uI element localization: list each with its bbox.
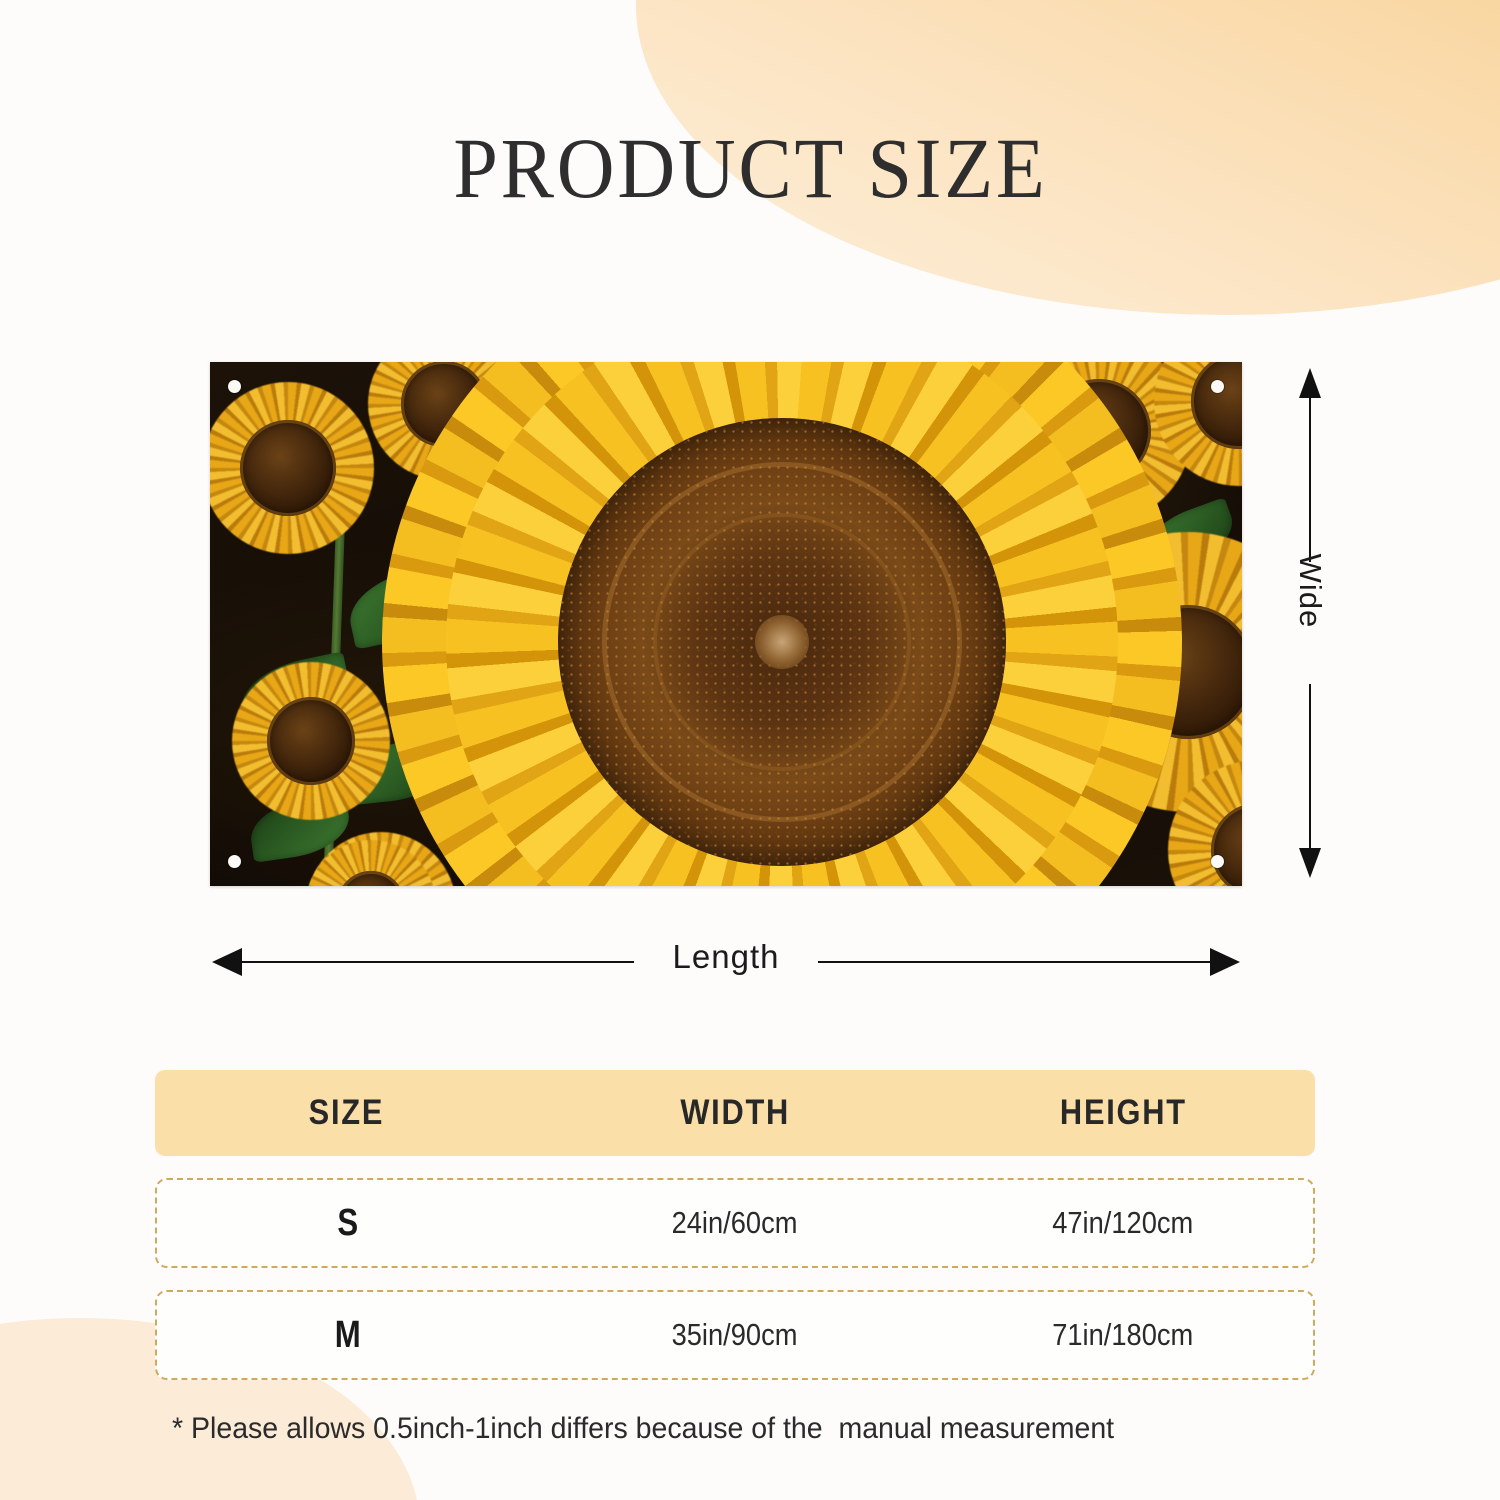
measurement-footnote: * Please allows 0.5inch-1inch differs be… xyxy=(172,1412,1114,1446)
sunflower-hero xyxy=(382,362,1182,886)
cell-size: M xyxy=(191,1314,504,1357)
sunflower-hero-disc xyxy=(558,418,1006,866)
sunflower-small xyxy=(232,662,390,820)
table-row: S 24in/60cm 47in/120cm xyxy=(155,1178,1315,1268)
sunflower-small xyxy=(210,382,374,554)
page-title: PRODUCT SIZE xyxy=(453,118,1047,218)
sunflower-seed-core xyxy=(755,615,809,669)
cell-height: 71in/180cm xyxy=(954,1317,1290,1353)
wide-dimension-arrow: Wide xyxy=(1290,368,1330,878)
arrow-line-right xyxy=(818,961,1214,963)
arrow-head-down-icon xyxy=(1299,848,1321,878)
size-table: SIZE WIDTH HEIGHT S 24in/60cm 47in/120cm… xyxy=(155,1070,1315,1380)
arrow-line-top xyxy=(1309,394,1311,562)
cell-height: 47in/120cm xyxy=(954,1205,1290,1241)
arrow-line-left xyxy=(238,961,634,963)
grommet-top-left xyxy=(228,380,241,393)
grommet-bottom-left xyxy=(228,855,241,868)
length-dimension-label: Length xyxy=(655,938,798,976)
length-dimension-arrow: Length xyxy=(212,930,1240,996)
column-header-width: WIDTH xyxy=(561,1093,908,1133)
sunflower-disc xyxy=(267,697,355,785)
table-row: M 35in/90cm 71in/180cm xyxy=(155,1290,1315,1380)
table-header-row: SIZE WIDTH HEIGHT xyxy=(155,1070,1315,1156)
cell-size: S xyxy=(191,1202,504,1245)
arrow-head-right-icon xyxy=(1210,948,1240,976)
arrow-line-bottom xyxy=(1309,684,1311,852)
wide-dimension-label: Wide xyxy=(1292,549,1328,633)
title-container: PRODUCT SIZE xyxy=(0,118,1500,218)
cell-width: 24in/60cm xyxy=(562,1205,908,1241)
sunflower-disc xyxy=(240,420,336,516)
product-image-sunflower-banner xyxy=(210,362,1242,886)
grommet-top-right xyxy=(1211,380,1224,393)
cell-width: 35in/90cm xyxy=(562,1317,908,1353)
column-header-size: SIZE xyxy=(178,1093,515,1133)
column-header-height: HEIGHT xyxy=(955,1093,1292,1133)
grommet-bottom-right xyxy=(1211,855,1224,868)
